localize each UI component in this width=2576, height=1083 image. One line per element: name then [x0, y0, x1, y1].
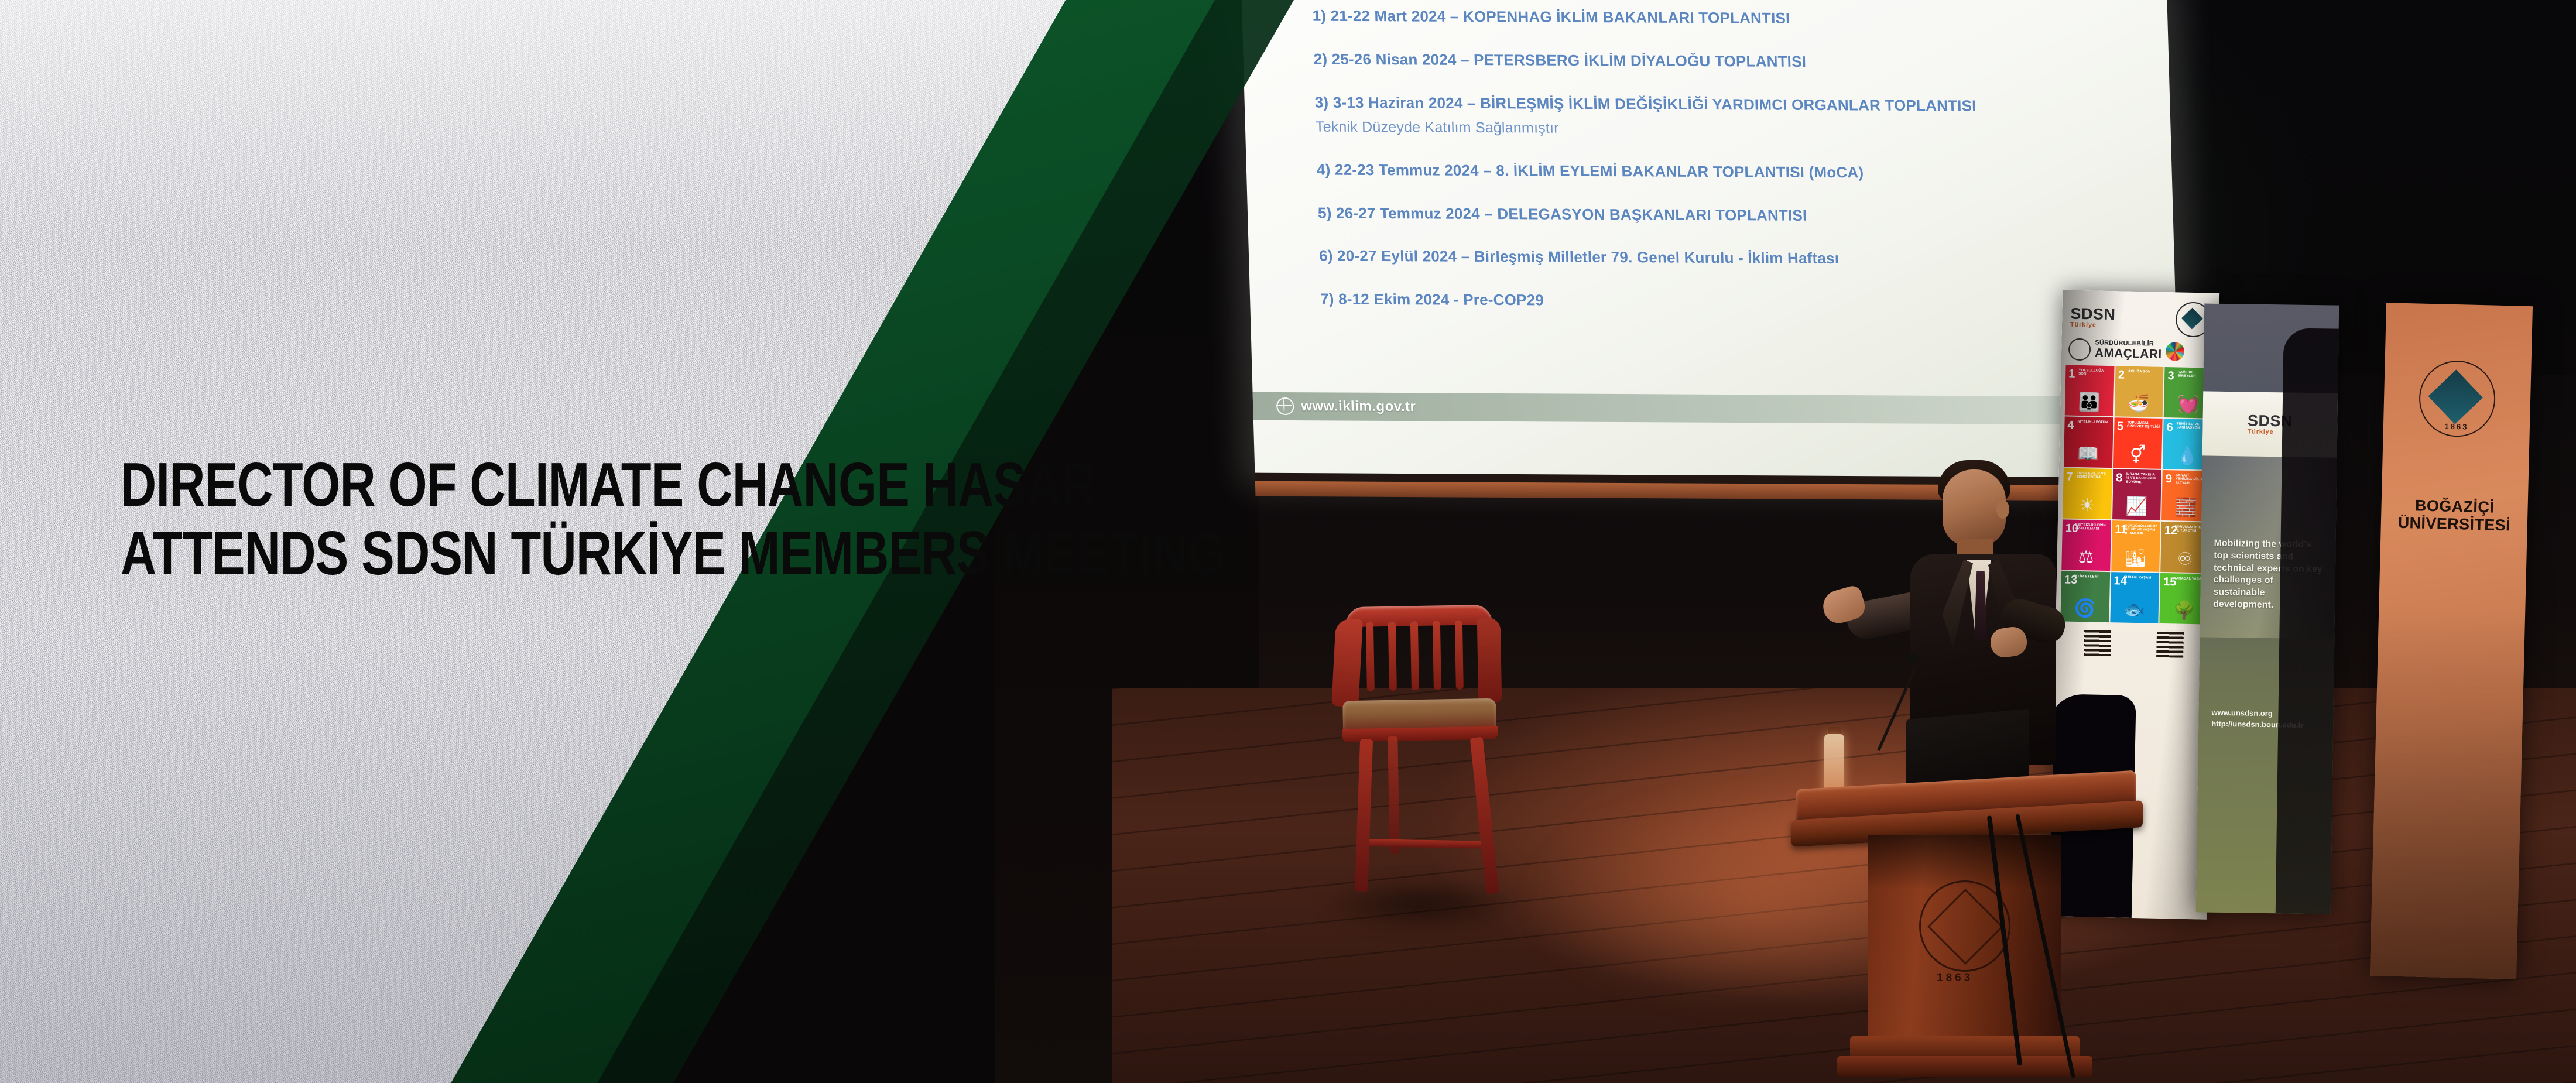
slide-item: 1) 21-22 Mart 2024 – KOPENHAG İKLİM BAKA…: [1312, 6, 2133, 30]
speaker-and-podium: 1863: [1791, 457, 2154, 1083]
headline-line-2: ATTENDS SDSN TÜRKİYE MEMBERS MEETING: [121, 519, 1085, 588]
chair-leg-back: [1388, 736, 1399, 854]
qr-code-icon: [2156, 630, 2184, 658]
slide-footer-bar: www.iklim.gov.tr: [1253, 392, 2179, 425]
chair-arm-left: [1331, 618, 1363, 707]
sdg-goal-icon: 🌳: [2173, 602, 2195, 620]
sdsn-logo: SDSN Türkiye: [2070, 307, 2116, 329]
sdg-goal-icon: 💧: [2176, 447, 2198, 465]
slide-item: 6) 20-27 Eylül 2024 – Birleşmiş Milletle…: [1319, 246, 2140, 270]
slide-item: 3) 3-13 Haziran 2024 – BİRLEŞMİŞ İKLİM D…: [1314, 92, 2136, 141]
podium-seal-year: 1863: [1937, 972, 1973, 985]
slide-item: 4) 22-23 Temmuz 2024 – 8. İKLİM EYLEMİ B…: [1317, 160, 2137, 184]
chair-spindle: [1366, 622, 1375, 691]
sdsn-logo-text: SDSN: [2070, 305, 2116, 324]
sdg-title-main: AMAÇLARI: [2095, 347, 2162, 361]
sdg-goal-icon: 🍜: [2128, 395, 2150, 413]
globe-icon: [1276, 397, 1294, 415]
slide-item-text: 3) 3-13 Haziran 2024 – BİRLEŞMİŞ İKLİM D…: [1314, 93, 1976, 114]
podium-plinth: [1837, 1056, 2092, 1077]
sdg-goal-icon: ♾: [2177, 551, 2194, 569]
chair-leg-front-right: [1470, 737, 1499, 894]
slide-item: 7) 8-12 Ekim 2024 - Pre-COP29: [1320, 290, 2141, 314]
chair-stretcher: [1364, 839, 1486, 849]
slide-item: 5) 26-27 Temmuz 2024 – DELEGASYON BAŞKAN…: [1318, 203, 2139, 227]
sdsn-mission-banner: SDSN Türkiye Mobilizing the world's top …: [2196, 303, 2339, 914]
sdg-goal-label: AÇLIĞA SON: [2128, 370, 2161, 374]
sdg-color-wheel-icon: [2166, 342, 2185, 361]
sdg-goal-tile: 2AÇLIĞA SON🍜: [2114, 366, 2163, 417]
person-silhouette: [2276, 328, 2339, 914]
bogazici-rollup-banner: 1863 BOĞAZİÇİ ÜNİVERSİTESİ: [2370, 303, 2533, 979]
sdg-goal-icon: 💓: [2177, 396, 2200, 414]
speaker-ear: [1996, 500, 2009, 519]
slide-item-text: 4) 22-23 Temmuz 2024 – 8. İKLİM EYLEMİ B…: [1317, 160, 1864, 181]
slide-item-text: 6) 20-27 Eylül 2024 – Birleşmiş Milletle…: [1319, 247, 1839, 268]
sdg-banner-title: SÜRDÜRÜLEBİLİR AMAÇLARI: [2061, 337, 2219, 368]
sdg-goal-icon: 👪: [2078, 394, 2101, 412]
chair-spindle: [1455, 621, 1464, 690]
chair-spindle: [1388, 622, 1397, 691]
slide-item-text: 5) 26-27 Temmuz 2024 – DELEGASYON BAŞKAN…: [1318, 204, 1807, 224]
slide-item-text: 1) 21-22 Mart 2024 – KOPENHAG İKLİM BAKA…: [1312, 7, 1790, 27]
chair-spindle: [1410, 621, 1419, 690]
chair-arm-right: [1477, 618, 1502, 703]
slide-footer-url: www.iklim.gov.tr: [1301, 398, 1416, 415]
page-title: DIRECTOR OF CLIMATE CHANGE HASAR ATTENDS…: [0, 451, 1206, 587]
un-emblem-icon: [2068, 338, 2091, 361]
banner-shading: [2370, 303, 2533, 979]
red-wooden-armchair: [1329, 604, 1510, 917]
chair-leg-front-left: [1355, 739, 1373, 892]
sdg-goal-label: TOPLUMSAL CİNSİYET EŞİTLİĞİ: [2127, 421, 2160, 430]
chair-spindle: [1433, 621, 1441, 690]
sdg-goal-label: NİTELİKLİ EĞİTİM: [2077, 420, 2111, 424]
slide-item-subtext: Teknik Düzeyde Katılım Sağlanmıştır: [1315, 118, 2136, 141]
slide-item-text: 7) 8-12 Ekim 2024 - Pre-COP29: [1320, 290, 1544, 309]
news-banner: 1) 21-22 Mart 2024 – KOPENHAG İKLİM BAKA…: [0, 0, 2576, 1083]
projection-screen: 1) 21-22 Mart 2024 – KOPENHAG İKLİM BAKA…: [1241, 0, 2180, 479]
sdg-banner-header: SDSN Türkiye: [2062, 290, 2220, 340]
sdg-goal-icon: 🧱: [2175, 499, 2197, 517]
sdg-title-text: SÜRDÜRÜLEBİLİR AMAÇLARI: [2095, 340, 2162, 361]
headline-line-1: DIRECTOR OF CLIMATE CHANGE HASAR: [121, 451, 1085, 519]
sdg-goal-tile: 1YOKSULLUĞA SON👪: [2065, 365, 2114, 416]
slide-item-text: 2) 25-26 Nisan 2024 – PETERSBERG İKLİM D…: [1313, 50, 1806, 70]
sdg-goal-label: YOKSULLUĞA SON: [2078, 369, 2112, 377]
slide-item: 2) 25-26 Nisan 2024 – PETERSBERG İKLİM D…: [1313, 49, 2134, 73]
slide-content: 1) 21-22 Mart 2024 – KOPENHAG İKLİM BAKA…: [1312, 6, 2141, 337]
